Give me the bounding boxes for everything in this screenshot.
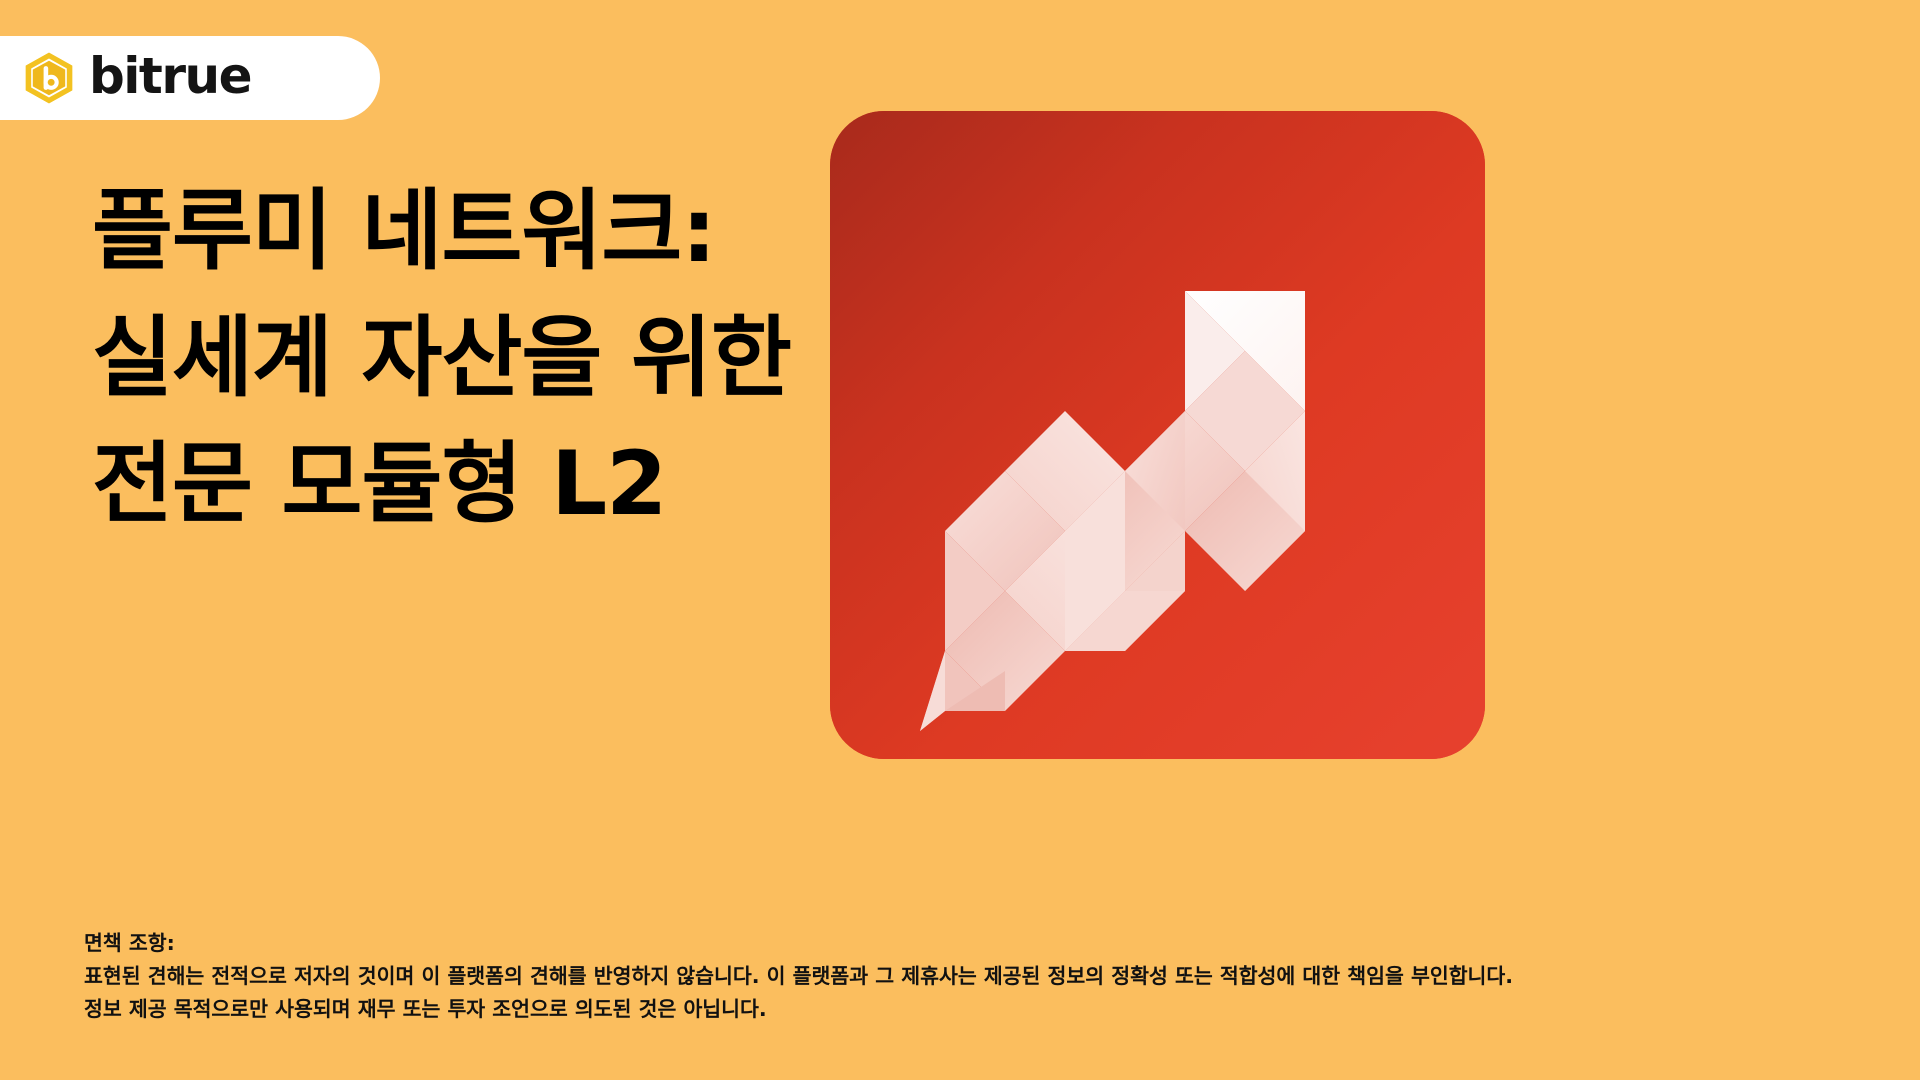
disclaimer-line-1: 표현된 견해는 전적으로 저자의 것이며 이 플랫폼의 견해를 반영하지 않습니… [84, 960, 1854, 993]
plume-feather-arrow-icon [830, 111, 1485, 759]
bitrue-hexagon-b-icon [22, 51, 76, 105]
page-title: 플루미 네트워크: 실세계 자산을 위한 전문 모듈형 L2 [92, 168, 822, 548]
disclaimer-title: 면책 조항: [84, 927, 1854, 960]
plume-network-logo-card [830, 111, 1485, 759]
disclaimer-body: 표현된 견해는 전적으로 저자의 것이며 이 플랫폼의 견해를 반영하지 않습니… [84, 960, 1854, 1026]
disclaimer-line-2: 정보 제공 목적으로만 사용되며 재무 또는 투자 조언으로 의도된 것은 아닙… [84, 993, 1854, 1026]
bitrue-logo-badge: bitrue [0, 36, 380, 120]
slide-canvas: bitrue 플루미 네트워크: 실세계 자산을 위한 전문 모듈형 L2 [0, 0, 1920, 1080]
bitrue-wordmark: bitrue [89, 51, 251, 101]
disclaimer: 면책 조항: 표현된 견해는 전적으로 저자의 것이며 이 플랫폼의 견해를 반… [84, 927, 1854, 1027]
